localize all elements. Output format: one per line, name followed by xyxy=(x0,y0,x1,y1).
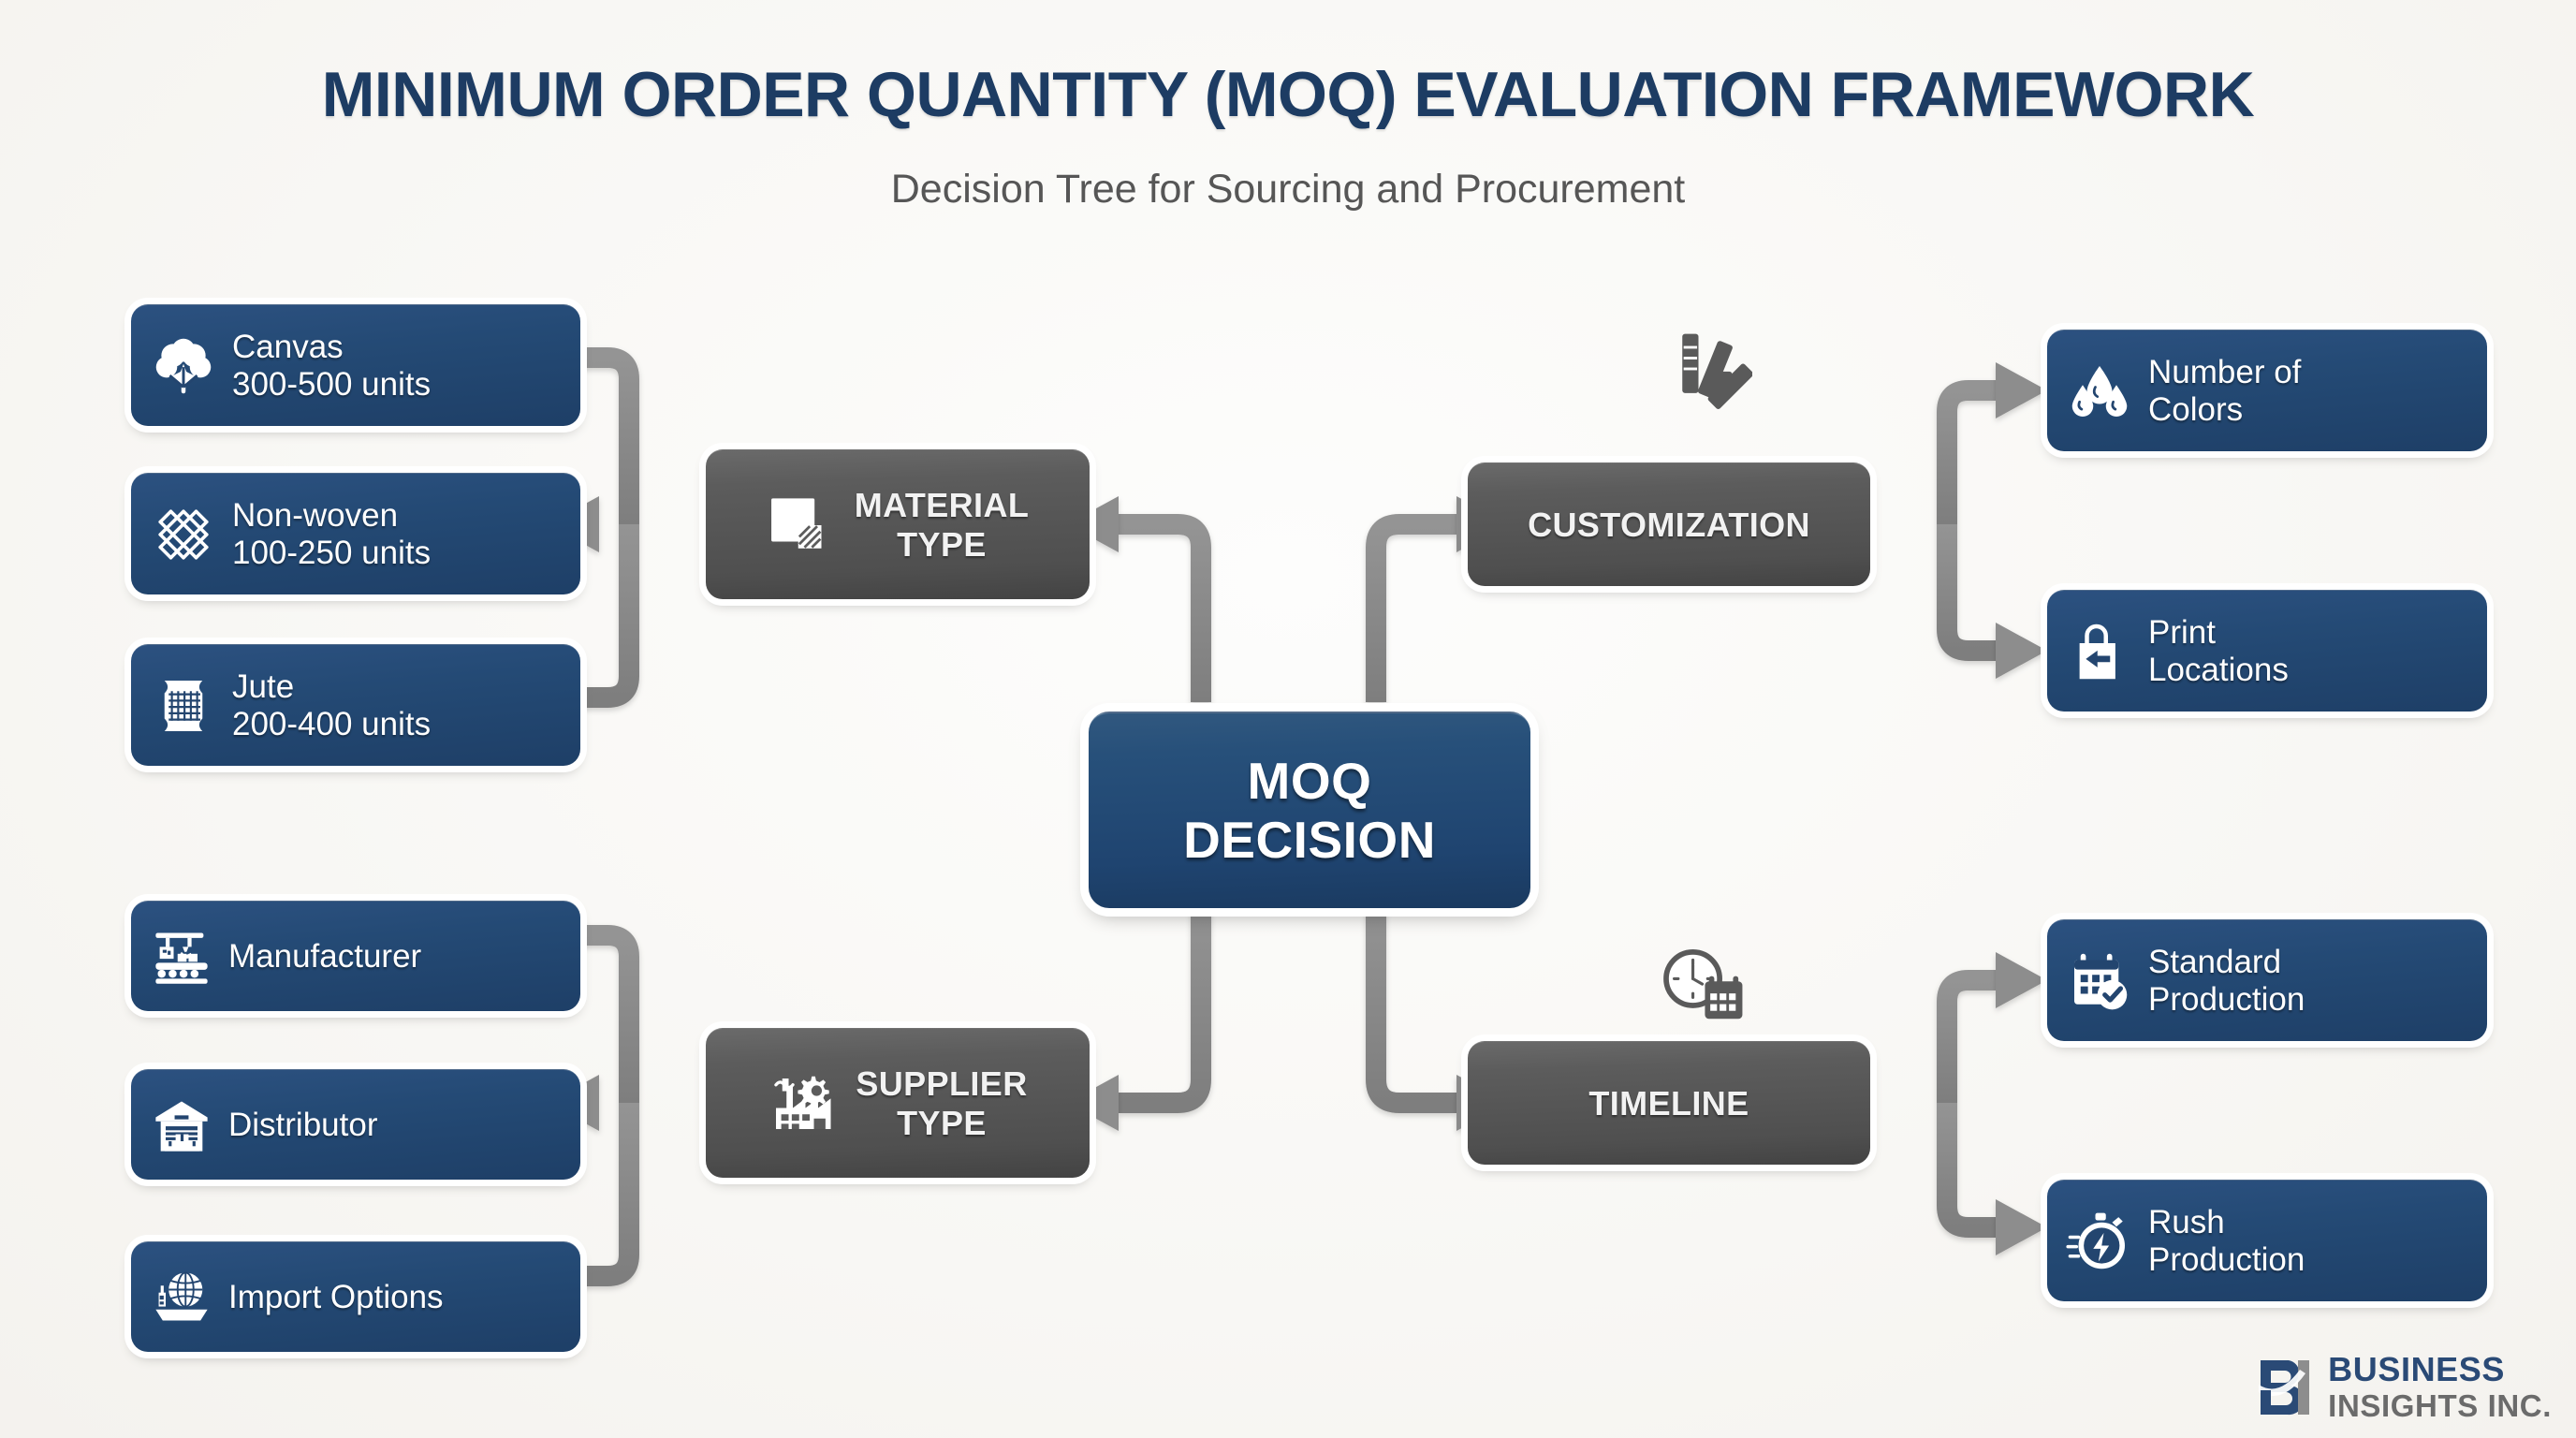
assembly-line-icon xyxy=(150,925,213,989)
leaf-jute[interactable]: Jute 200-400 units xyxy=(131,644,580,766)
brand-logo: BUSINESS INSIGHTS INC. xyxy=(2257,1353,2552,1421)
cotton-boll-icon xyxy=(150,332,217,400)
logo-line-2: INSIGHTS INC. xyxy=(2328,1390,2552,1421)
wire-timeline-to-rush xyxy=(1947,1103,1996,1227)
wire-supplier-to-manufacturer xyxy=(580,935,629,1103)
branch-supplier-type-label: SUPPLIER TYPE xyxy=(856,1064,1027,1141)
fabric-swatch-icon xyxy=(767,492,834,559)
branch-supplier-type[interactable]: SUPPLIER TYPE xyxy=(706,1028,1090,1178)
leaf-print-locations-label: Print Locations xyxy=(2148,614,2289,689)
stopwatch-bolt-icon xyxy=(2066,1208,2133,1275)
wire-customization-to-print xyxy=(1947,524,1996,651)
leaf-number-of-colors-label: Number of Colors xyxy=(2148,354,2301,429)
calendar-check-icon xyxy=(2066,947,2133,1015)
leaf-print-locations[interactable]: Print Locations xyxy=(2047,590,2487,712)
wire-center-to-customization xyxy=(1376,524,1456,702)
logo-line-1: BUSINESS xyxy=(2328,1353,2552,1387)
arrowhead-standard xyxy=(1996,952,2047,1008)
bi-monogram-icon xyxy=(2257,1357,2315,1418)
leaf-distributor-label: Distributor xyxy=(228,1107,377,1144)
leaf-jute-label: Jute 200-400 units xyxy=(232,668,431,743)
leaf-non-woven[interactable]: Non-woven 100-250 units xyxy=(131,473,580,594)
wire-center-to-timeline xyxy=(1376,901,1456,1103)
leaf-distributor[interactable]: Distributor xyxy=(131,1069,580,1180)
wire-center-to-material xyxy=(1119,524,1201,702)
ink-drops-icon xyxy=(2066,358,2133,425)
wire-supplier-to-import xyxy=(580,1103,629,1276)
arrowhead-colors xyxy=(1996,362,2047,418)
color-swatch-fan-icon xyxy=(1666,326,1752,412)
leaf-import-options[interactable]: Import Options xyxy=(131,1241,580,1352)
jute-sack-icon xyxy=(150,672,217,740)
branch-timeline[interactable]: TIMELINE xyxy=(1468,1041,1870,1165)
leaf-canvas[interactable]: Canvas 300-500 units xyxy=(131,304,580,426)
leaf-manufacturer-label: Manufacturer xyxy=(228,938,421,976)
arrowhead-print xyxy=(1996,623,2047,679)
tote-bag-print-icon xyxy=(2066,618,2133,685)
wire-timeline-to-standard xyxy=(1947,980,1996,1103)
leaf-standard-production-label: Standard Production xyxy=(2148,944,2305,1019)
factory-gear-icon xyxy=(768,1070,835,1137)
leaf-number-of-colors[interactable]: Number of Colors xyxy=(2047,330,2487,451)
arrowhead-rush xyxy=(1996,1199,2047,1255)
moq-decision-label: MOQ DECISION xyxy=(1183,752,1436,869)
leaf-rush-production-label: Rush Production xyxy=(2148,1204,2305,1279)
moq-decision-node[interactable]: MOQ DECISION xyxy=(1089,712,1530,908)
branch-customization-label: CUSTOMIZATION xyxy=(1528,506,1810,544)
clock-calendar-icon xyxy=(1657,944,1750,1030)
branch-customization[interactable]: CUSTOMIZATION xyxy=(1468,462,1870,586)
wire-customization-to-colors xyxy=(1947,390,1996,524)
leaf-non-woven-label: Non-woven 100-250 units xyxy=(232,497,431,572)
leaf-import-options-label: Import Options xyxy=(228,1279,444,1316)
branch-material-type[interactable]: MATERIAL TYPE xyxy=(706,449,1090,599)
infographic-canvas: MINIMUM ORDER QUANTITY (MOQ) EVALUATION … xyxy=(0,0,2576,1438)
warehouse-icon xyxy=(150,1093,213,1157)
leaf-canvas-label: Canvas 300-500 units xyxy=(232,329,431,404)
branch-material-type-label: MATERIAL TYPE xyxy=(855,486,1030,563)
woven-mesh-icon xyxy=(150,501,217,568)
cargo-ship-globe-icon xyxy=(150,1266,213,1329)
wire-center-to-supplier xyxy=(1119,901,1201,1103)
leaf-rush-production[interactable]: Rush Production xyxy=(2047,1180,2487,1301)
leaf-manufacturer[interactable]: Manufacturer xyxy=(131,901,580,1011)
wire-material-to-jute xyxy=(580,524,629,697)
wire-material-to-canvas xyxy=(580,358,629,524)
leaf-standard-production[interactable]: Standard Production xyxy=(2047,919,2487,1041)
branch-timeline-label: TIMELINE xyxy=(1588,1084,1749,1123)
